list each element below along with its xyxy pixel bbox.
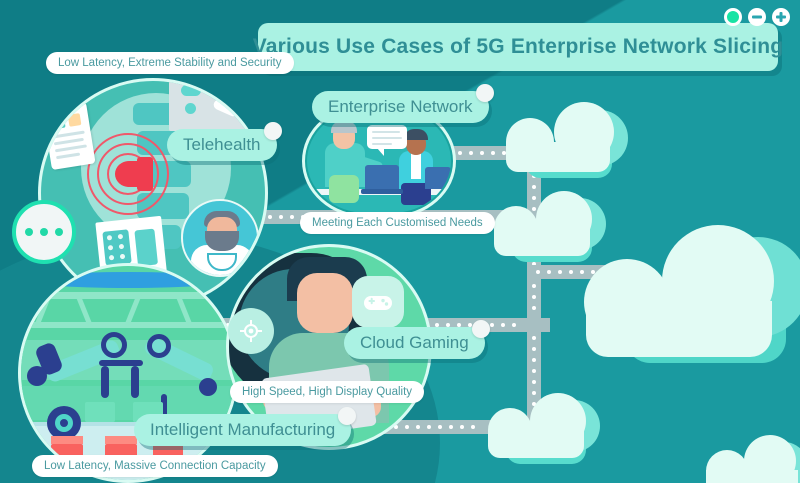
label-enterprise-network-text: Enterprise Network	[328, 97, 473, 117]
page-title-text: Various Use Cases of 5G Enterprise Netwo…	[253, 35, 784, 59]
label-intelligent-manufacturing-text: Intelligent Manufacturing	[150, 420, 335, 440]
minimize-button[interactable]	[748, 8, 766, 26]
tag-enterprise-network-text: Meeting Each Customised Needs	[312, 217, 483, 229]
gripper-arm	[131, 366, 139, 398]
crosshair-badge	[228, 308, 274, 354]
tag-cloud-gaming-text: High Speed, High Display Quality	[242, 386, 412, 398]
tag-intelligent-manufacturing-text: Low Latency, Massive Connection Capacity	[44, 460, 266, 472]
maximize-button[interactable]	[772, 8, 790, 26]
status-indicator[interactable]	[724, 8, 742, 26]
robot-joint	[27, 366, 47, 386]
label-telehealth-text: Telehealth	[183, 135, 261, 155]
gripper-arm	[101, 366, 109, 398]
pain-point-icon	[137, 157, 153, 191]
tag-intelligent-manufacturing: Low Latency, Massive Connection Capacity	[32, 455, 278, 477]
factory-ceiling	[21, 272, 235, 288]
tag-telehealth-text: Low Latency, Extreme Stability and Secur…	[58, 57, 282, 69]
cloud-node-4	[700, 430, 800, 483]
three-dots-icon	[55, 228, 63, 236]
truss-beam	[21, 292, 238, 299]
gamepad-badge	[352, 276, 404, 328]
three-dots-icon	[40, 228, 48, 236]
label-cloud-gaming-text: Cloud Gaming	[360, 333, 469, 353]
medicine-tray	[169, 78, 255, 131]
infographic-canvas: Various Use Cases of 5G Enterprise Netwo…	[0, 0, 800, 483]
cloud-node-main	[576, 215, 800, 375]
tag-telehealth: Low Latency, Extreme Stability and Secur…	[46, 52, 294, 74]
page-title: Various Use Cases of 5G Enterprise Netwo…	[258, 23, 778, 71]
clipboard-icon	[42, 102, 95, 170]
three-dots-icon	[25, 228, 33, 236]
label-knob-icon	[472, 320, 490, 338]
robot-base-ring	[55, 414, 73, 432]
label-knob-icon	[264, 122, 282, 140]
label-knob-icon	[476, 84, 494, 102]
product-crate	[85, 402, 115, 422]
tag-cloud-gaming: High Speed, High Display Quality	[230, 381, 424, 403]
label-telehealth[interactable]: Telehealth	[167, 129, 277, 161]
label-enterprise-network[interactable]: Enterprise Network	[312, 91, 489, 123]
gripper-bar	[99, 360, 143, 366]
cloud-node-1	[500, 96, 630, 188]
scene-intelligent-manufacturing[interactable]	[18, 263, 238, 483]
window-controls	[724, 8, 790, 26]
label-cloud-gaming[interactable]: Cloud Gaming	[344, 327, 485, 359]
cloud-node-3	[482, 388, 602, 474]
robot-joint	[101, 332, 127, 358]
more-options-button[interactable]	[12, 200, 76, 264]
tag-enterprise-network: Meeting Each Customised Needs	[300, 212, 495, 234]
gamer-head	[297, 273, 353, 333]
gamepad-icon	[363, 291, 393, 313]
robot-joint	[199, 378, 217, 396]
crosshair-icon	[239, 319, 263, 343]
label-intelligent-manufacturing[interactable]: Intelligent Manufacturing	[134, 414, 351, 446]
robot-joint	[147, 334, 171, 358]
